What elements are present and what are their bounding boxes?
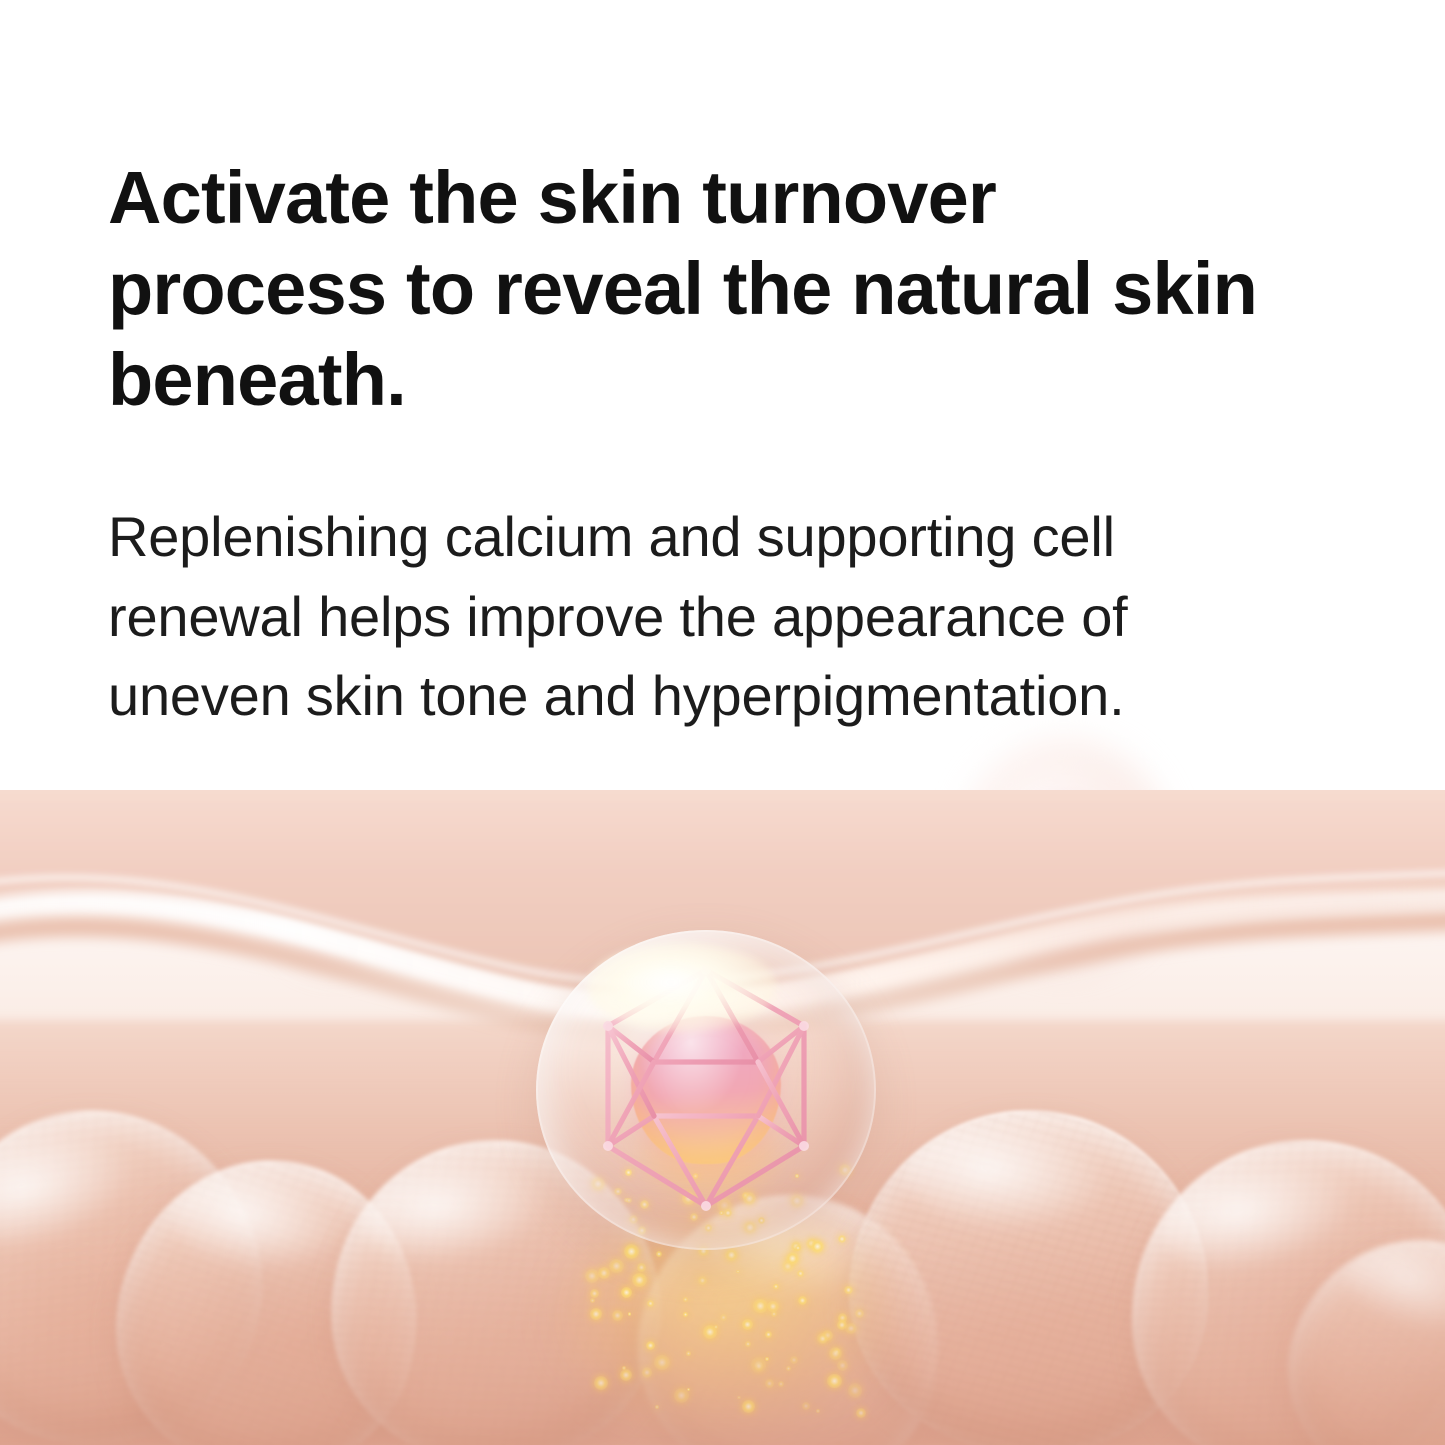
body-paragraph: Replenishing calcium and supporting cell… (108, 425, 1298, 736)
hero-illustration (0, 640, 1445, 1445)
marketing-panel: Activate the skin turnover process to re… (0, 0, 1445, 1445)
page-title: Activate the skin turnover process to re… (108, 152, 1268, 425)
copy-block: Activate the skin turnover process to re… (108, 152, 1308, 736)
rim-light (536, 930, 876, 1250)
encapsulated-active-sphere (536, 930, 876, 1250)
